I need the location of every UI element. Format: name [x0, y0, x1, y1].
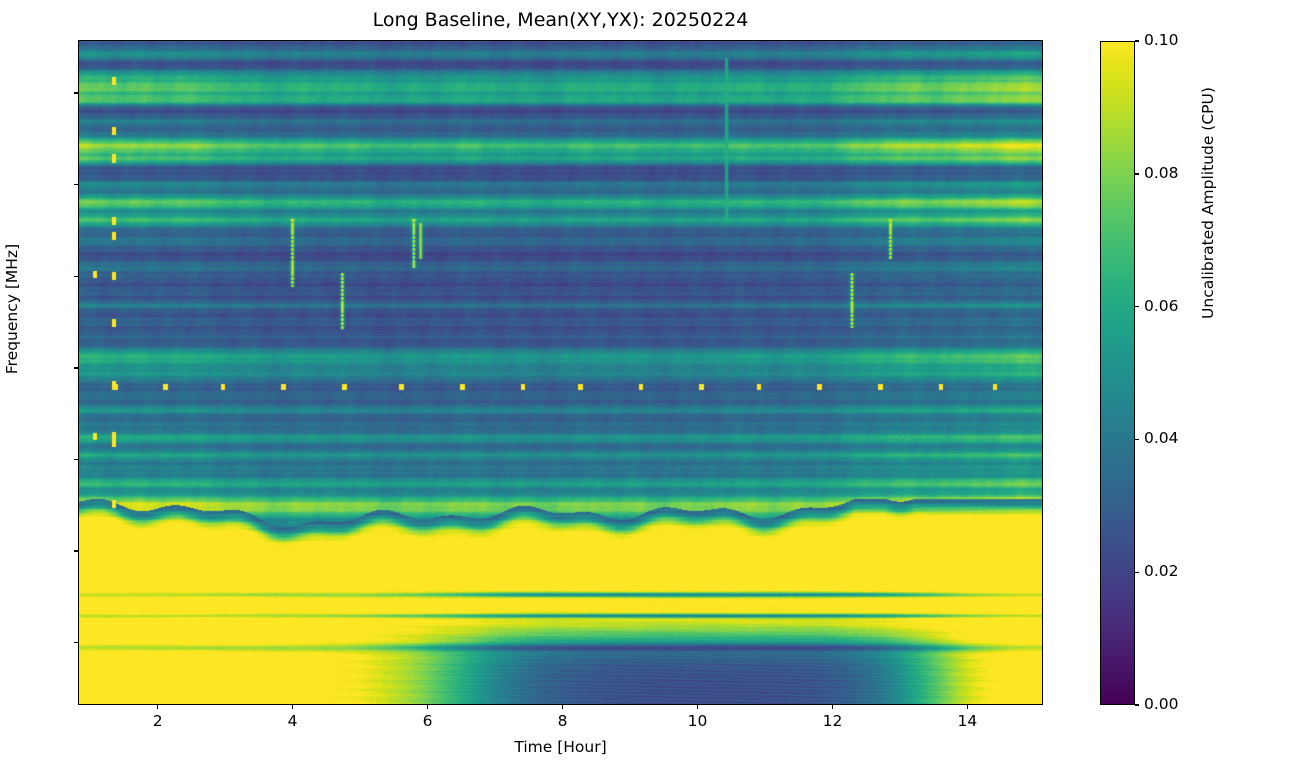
page-title: Long Baseline, Mean(XY,YX): 20250224 — [78, 8, 1043, 32]
waterfall-heatmap — [79, 41, 1043, 705]
y-tick-mark — [74, 550, 78, 551]
x-tick-label: 14 — [927, 712, 1007, 730]
y-tick-mark — [74, 459, 78, 460]
y-tick-mark — [74, 92, 78, 93]
x-tick-mark — [967, 705, 968, 709]
x-tick-label: 10 — [657, 712, 737, 730]
x-tick-mark — [427, 705, 428, 709]
colorbar-tick-mark — [1135, 572, 1139, 573]
figure-canvas: Long Baseline, Mean(XY,YX): 20250224 Fre… — [0, 0, 1300, 780]
x-tick-mark — [697, 705, 698, 709]
x-tick-label: 8 — [523, 712, 603, 730]
y-tick-mark — [74, 276, 78, 277]
colorbar-tick-mark — [1135, 40, 1139, 41]
colorbar-tick-mark — [1135, 173, 1139, 174]
x-tick-label: 4 — [253, 712, 333, 730]
x-tick-label: 2 — [118, 712, 198, 730]
x-axis-label: Time [Hour] — [78, 738, 1043, 756]
colorbar-tick-mark — [1135, 704, 1139, 705]
colorbar-tick-label: 0.02 — [1144, 562, 1179, 580]
y-tick-mark — [74, 367, 78, 368]
x-tick-mark — [157, 705, 158, 709]
colorbar-tick-label: 0.04 — [1144, 429, 1179, 447]
x-tick-mark — [562, 705, 563, 709]
colorbar-gradient — [1101, 42, 1134, 704]
colorbar-tick-mark — [1135, 439, 1139, 440]
x-tick-label: 12 — [792, 712, 872, 730]
colorbar-tick-label: 0.00 — [1144, 695, 1179, 713]
x-tick-label: 6 — [388, 712, 468, 730]
x-tick-mark — [292, 705, 293, 709]
y-tick-mark — [74, 184, 78, 185]
colorbar-tick-label: 0.08 — [1144, 164, 1179, 182]
colorbar-tick-mark — [1135, 306, 1139, 307]
x-tick-mark — [832, 705, 833, 709]
colorbar-label: Uncalibrated Amplitude (CPU) — [1199, 33, 1217, 373]
colorbar-tick-label: 0.06 — [1144, 297, 1179, 315]
y-tick-mark — [74, 642, 78, 643]
y-axis-label: Frequency [MHz] — [3, 209, 21, 409]
colorbar — [1100, 41, 1135, 705]
waterfall-plot-axes — [78, 40, 1043, 705]
colorbar-tick-label: 0.10 — [1144, 31, 1179, 49]
